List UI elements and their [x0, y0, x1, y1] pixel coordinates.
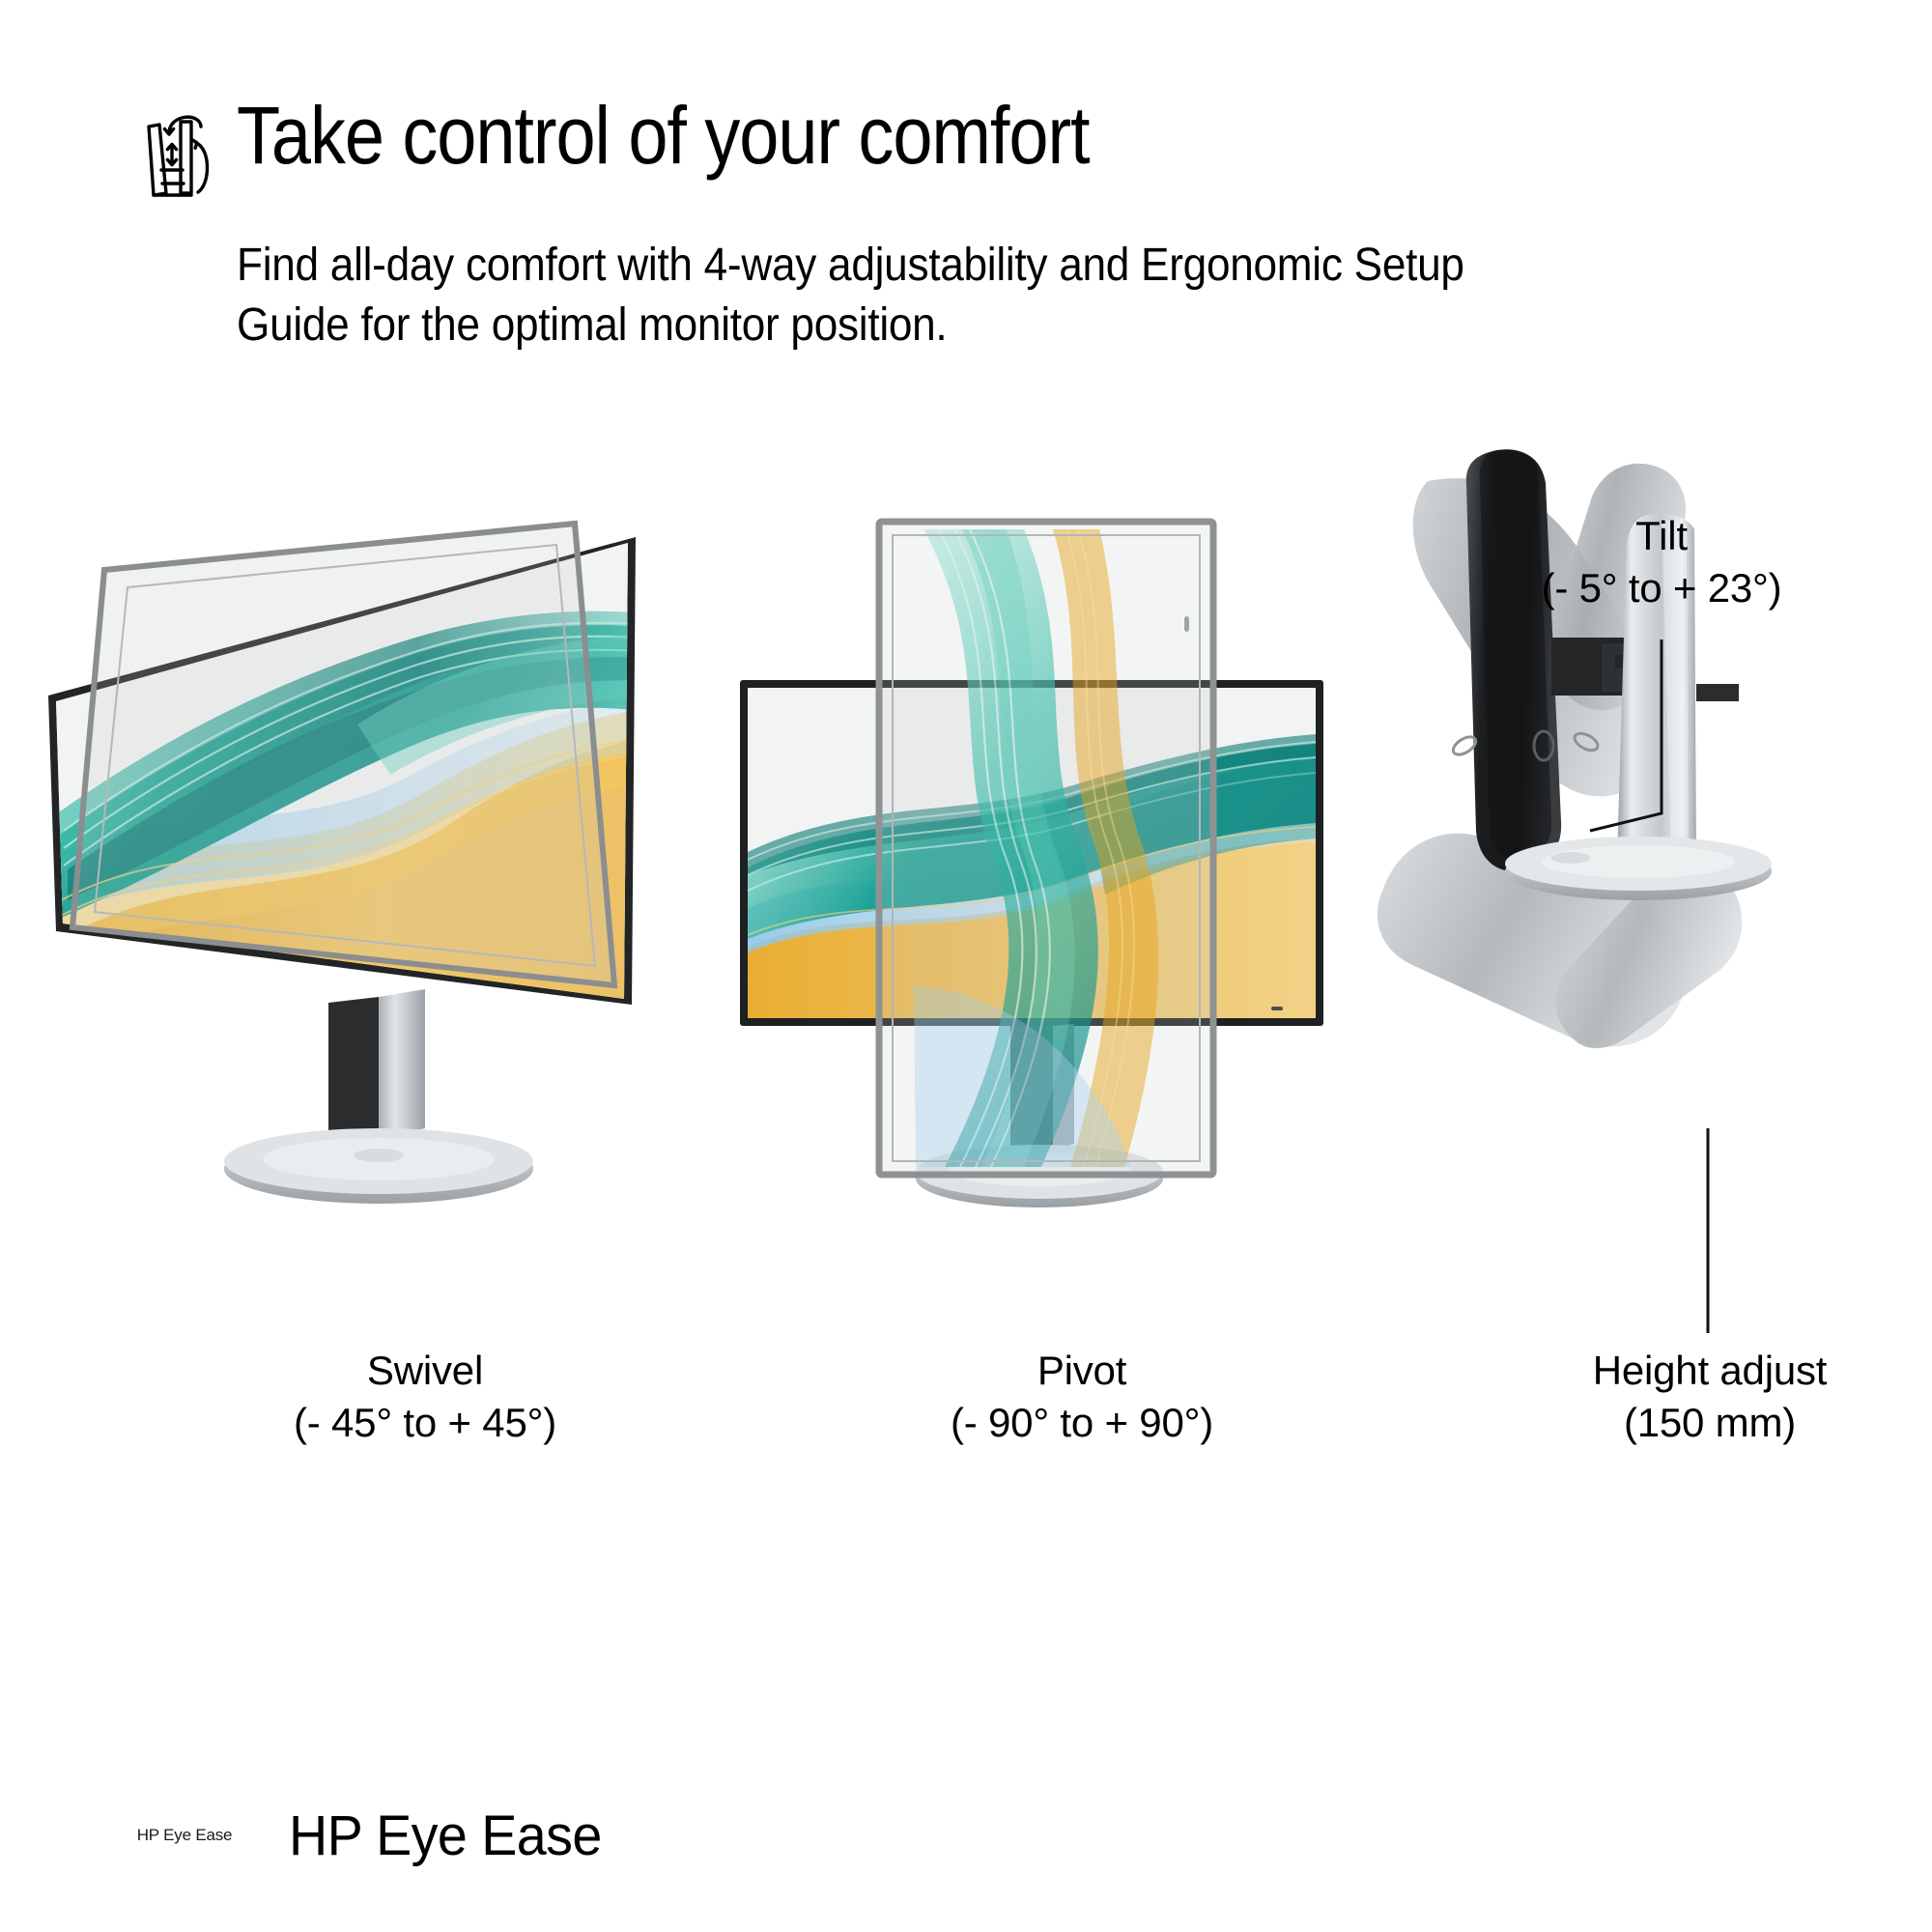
infographic-page: Take control of your comfort Find all-da… [0, 0, 1932, 1932]
footer: HP Eye Ease HP Eye Ease [140, 1797, 614, 1874]
caption-height-adjust-range: (150 mm) [1420, 1397, 1932, 1449]
tilt-callout-line-2: (- 5° to + 23°) [1507, 562, 1816, 614]
hp-eye-ease-wordmark: HP Eye Ease [289, 1804, 602, 1868]
caption-swivel-title: Swivel [135, 1345, 715, 1397]
header-title-row: Take control of your comfort [140, 93, 1206, 201]
tilt-callout-label: Tilt (- 5° to + 23°) [1507, 510, 1816, 614]
page-title: Take control of your comfort [237, 93, 1089, 178]
monitor-pivot-illustration [734, 406, 1333, 1391]
caption-swivel: Swivel (- 45° to + 45°) [135, 1345, 715, 1449]
header: Take control of your comfort Find all-da… [140, 93, 1840, 402]
monitor-swivel-illustration [39, 406, 667, 1391]
hp-eye-ease-badge: HP Eye Ease [140, 1808, 229, 1862]
caption-pivot: Pivot (- 90° to + 90°) [792, 1345, 1372, 1449]
caption-pivot-title: Pivot [792, 1345, 1372, 1397]
caption-height-adjust: Height adjust (150 mm) [1420, 1345, 1932, 1449]
caption-pivot-range: (- 90° to + 90°) [792, 1397, 1372, 1449]
subtitle-line-2: Guide for the optimal monitor position. [237, 296, 1570, 355]
monitor-adjustability-icon [140, 100, 215, 201]
subtitle-line-1: Find all-day comfort with 4-way adjustab… [237, 236, 1570, 296]
caption-height-adjust-title: Height adjust [1420, 1345, 1932, 1397]
page-subtitle: Find all-day comfort with 4-way adjustab… [237, 236, 1570, 355]
tilt-callout-line-1: Tilt [1507, 510, 1816, 562]
caption-swivel-range: (- 45° to + 45°) [135, 1397, 715, 1449]
